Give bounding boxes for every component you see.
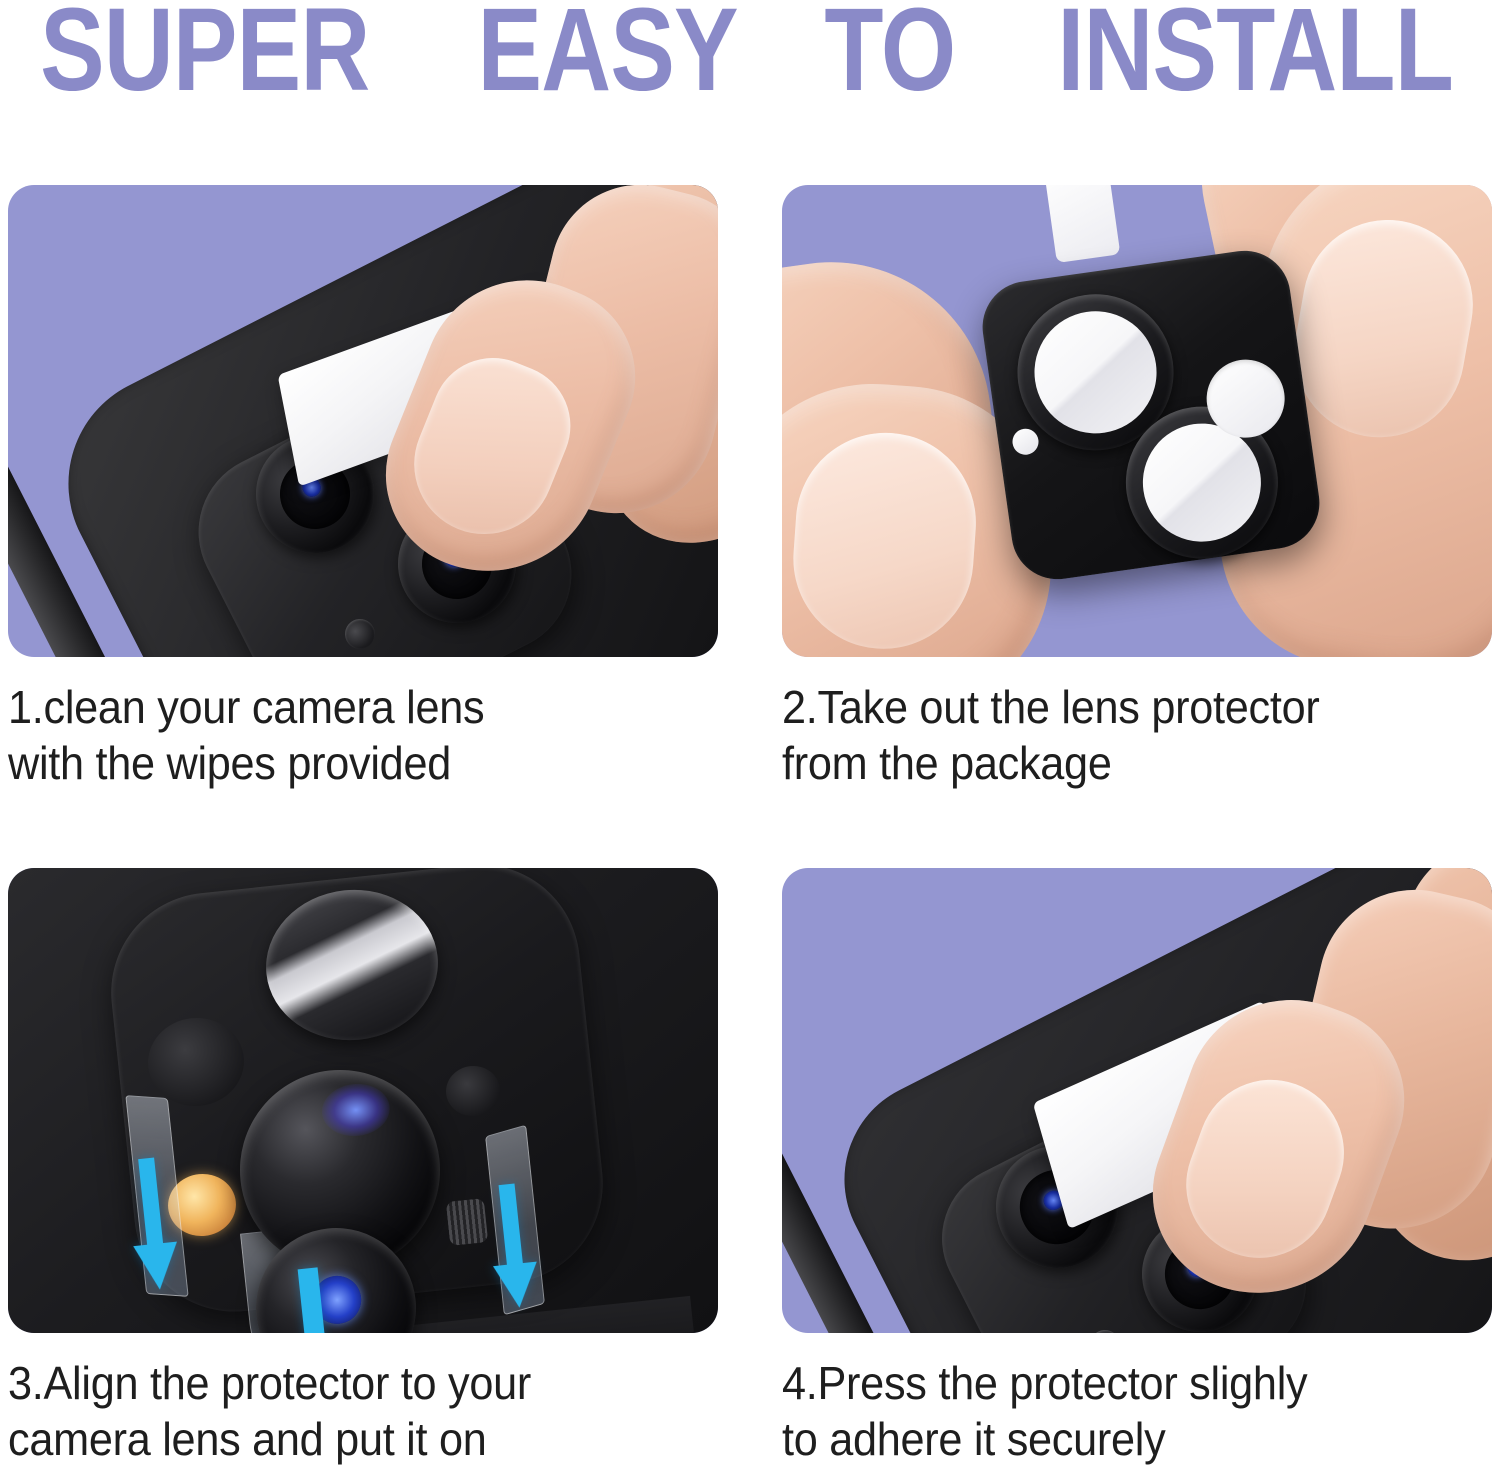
step-2-caption: 2.Take out the lens protector from the p… — [782, 679, 1459, 791]
step-card-4: 4.Press the protector slighly to adhere … — [782, 868, 1500, 1467]
step-4-caption: 4.Press the protector slighly to adhere … — [782, 1355, 1459, 1467]
headline-word-4: INSTALL — [1057, 0, 1453, 109]
steps-grid: 1.clean your camera lens with the wipes … — [0, 185, 1500, 1474]
headline-word-1: SUPER — [40, 0, 369, 109]
step-card-2: 2.Take out the lens protector from the p… — [782, 185, 1500, 791]
step-card-3: 3.Align the protector to your camera len… — [8, 868, 728, 1467]
step-card-1: 1.clean your camera lens with the wipes … — [8, 185, 728, 791]
step-1-caption: 1.clean your camera lens with the wipes … — [8, 679, 685, 791]
headline-word-2: EASY — [478, 0, 738, 109]
protector-sensor-hole-icon — [1011, 427, 1040, 456]
step-4-photo — [782, 868, 1492, 1333]
infographic-page: SUPER EASY TO INSTALL 1.clean your camer… — [0, 0, 1500, 1474]
step-1-photo — [8, 185, 718, 657]
microphone-icon — [446, 1198, 488, 1246]
headline-word-3: TO — [825, 0, 956, 109]
headline-banner: SUPER EASY TO INSTALL — [0, 0, 1500, 106]
step-3-caption: 3.Align the protector to your camera len… — [8, 1355, 685, 1467]
step-3-photo — [8, 868, 718, 1333]
peel-tab-icon — [1044, 185, 1121, 263]
step-2-photo — [782, 185, 1492, 657]
lens-protector-icon — [977, 245, 1326, 585]
